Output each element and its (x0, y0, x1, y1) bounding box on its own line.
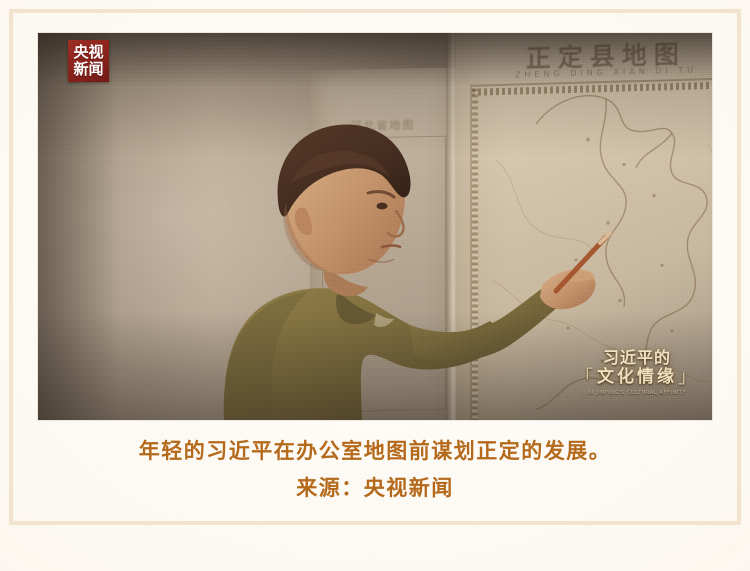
caption-line-1: 年轻的习近平在办公室地图前谋划正定的发展。 (0, 432, 750, 469)
photo-vignette (38, 33, 712, 420)
page-container: 河北省地图 正定县地图 ZHENG DING XIAN DI TU (0, 0, 750, 571)
caption-line-2: 来源：央视新闻 (0, 469, 750, 506)
news-photograph: 河北省地图 正定县地图 ZHENG DING XIAN DI TU (38, 33, 712, 420)
cctv-news-logo: 央视 新闻 (68, 40, 109, 82)
photo-caption: 年轻的习近平在办公室地图前谋划正定的发展。 来源：央视新闻 (0, 432, 750, 506)
cctv-logo-line-2: 新闻 (73, 61, 103, 78)
cctv-logo-line-1: 央视 (73, 44, 103, 61)
